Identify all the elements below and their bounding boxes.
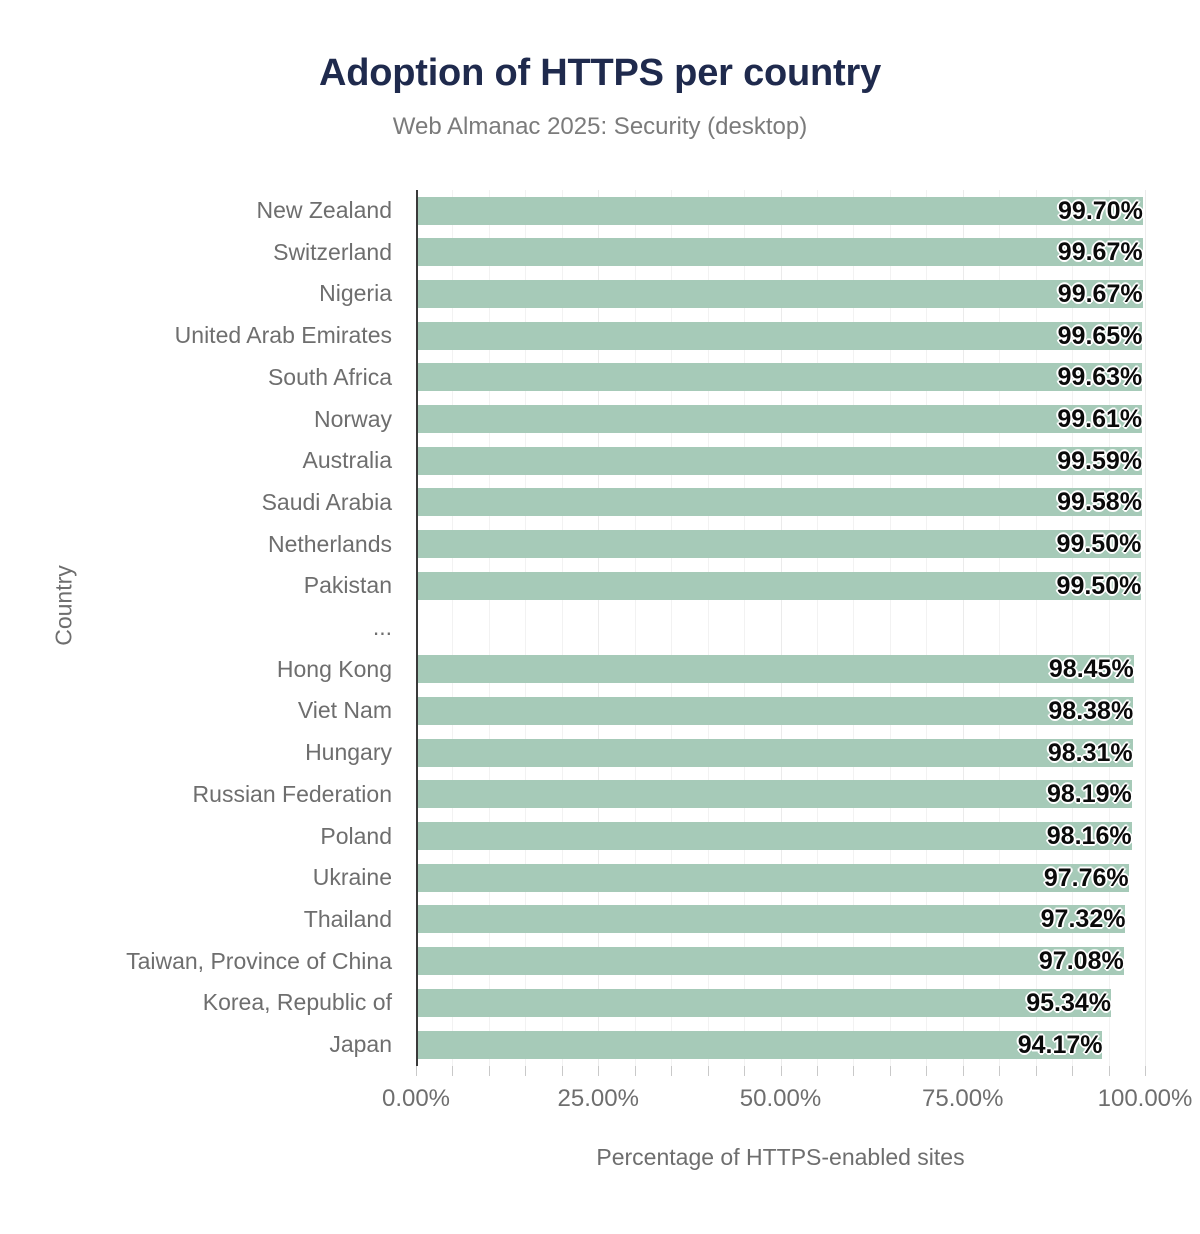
plot-area: 99.70%99.67%99.67%99.65%99.63%99.61%99.5… — [416, 190, 1145, 1066]
bar-row: 97.76% — [416, 857, 1145, 899]
bar-value-label: 95.34% — [416, 989, 1121, 1017]
x-axis-tick-label: 75.00% — [922, 1085, 1003, 1113]
bar-value-label: 99.67% — [416, 238, 1153, 266]
x-axis-tick — [963, 1066, 964, 1076]
x-axis-tick — [999, 1066, 1000, 1076]
bar-value-label: 99.59% — [416, 447, 1152, 475]
bar-row: 99.67% — [416, 232, 1145, 274]
bar-row: 98.31% — [416, 732, 1145, 774]
bar-row: 95.34% — [416, 982, 1145, 1024]
x-axis-title: Percentage of HTTPS-enabled sites — [416, 1144, 1145, 1171]
bar-value-label: 99.67% — [416, 280, 1153, 308]
bar-value-label: 98.38% — [416, 697, 1143, 725]
bar-row: 99.63% — [416, 357, 1145, 399]
x-axis-tick — [671, 1066, 672, 1076]
x-axis-tick — [562, 1066, 563, 1076]
x-axis-tick — [598, 1066, 599, 1076]
bar-value-label: 97.32% — [416, 905, 1135, 933]
x-axis-tick — [781, 1066, 782, 1076]
bar-row: 98.19% — [416, 774, 1145, 816]
chart-figure: Adoption of HTTPS per country Web Almana… — [0, 0, 1200, 1234]
y-axis-tick-label: Thailand — [0, 899, 404, 941]
bar-value-label: 99.70% — [416, 197, 1153, 225]
bar-rows: 99.70%99.67%99.67%99.65%99.63%99.61%99.5… — [416, 190, 1145, 1066]
y-axis-tick-label: Poland — [0, 816, 404, 858]
bar-row: 99.50% — [416, 565, 1145, 607]
x-axis-tick — [1145, 1066, 1146, 1076]
x-axis-ticks — [416, 1066, 1145, 1078]
bar-row — [416, 607, 1145, 649]
bar-value-label: 98.19% — [416, 780, 1142, 808]
x-axis-tick — [853, 1066, 854, 1076]
x-axis-tick — [1036, 1066, 1037, 1076]
x-axis-tick-label: 0.00% — [382, 1085, 450, 1113]
y-axis-line — [416, 190, 418, 1066]
bar-value-label: 99.65% — [416, 322, 1152, 350]
y-axis-tick-label: Switzerland — [0, 232, 404, 274]
bar-value-label: 98.31% — [416, 739, 1143, 767]
bar-value-label: 99.61% — [416, 405, 1152, 433]
y-axis-tick-label: Nigeria — [0, 273, 404, 315]
x-axis-tick — [890, 1066, 891, 1076]
bar-row: 99.61% — [416, 399, 1145, 441]
bar-row: 99.58% — [416, 482, 1145, 524]
y-axis-tick-label: Norway — [0, 399, 404, 441]
y-axis-tick-label: New Zealand — [0, 190, 404, 232]
bar-row: 98.38% — [416, 690, 1145, 732]
bar-value-label: 98.16% — [416, 822, 1142, 850]
bar-row: 99.70% — [416, 190, 1145, 232]
bar-row: 99.59% — [416, 440, 1145, 482]
bar-row: 99.67% — [416, 273, 1145, 315]
x-axis-tick — [416, 1066, 417, 1076]
x-axis-tick — [635, 1066, 636, 1076]
y-axis-tick-label: Viet Nam — [0, 690, 404, 732]
bar-value-label: 97.08% — [416, 947, 1134, 975]
x-axis-tick-label: 25.00% — [558, 1085, 639, 1113]
x-axis-tick-label: 100.00% — [1098, 1085, 1193, 1113]
x-axis-tick — [525, 1066, 526, 1076]
y-axis-tick-label: Korea, Republic of — [0, 982, 404, 1024]
bar-row: 99.50% — [416, 524, 1145, 566]
y-axis-tick-label: United Arab Emirates — [0, 315, 404, 357]
bar-row: 94.17% — [416, 1024, 1145, 1066]
x-axis-tick — [489, 1066, 490, 1076]
bar-row: 98.16% — [416, 816, 1145, 858]
x-axis-tick — [926, 1066, 927, 1076]
y-axis-tick-label: South Africa — [0, 357, 404, 399]
y-axis-title: Country — [51, 536, 78, 676]
x-axis-tick — [744, 1066, 745, 1076]
bar-value-label: 98.45% — [416, 655, 1144, 683]
bar-value-label: 94.17% — [416, 1031, 1112, 1059]
bar-value-label: 99.63% — [416, 363, 1152, 391]
bar-value-label: 99.50% — [416, 572, 1151, 600]
page-title: Adoption of HTTPS per country — [0, 52, 1200, 95]
x-axis-tick — [1109, 1066, 1110, 1076]
x-axis-tick — [708, 1066, 709, 1076]
x-axis-tick — [817, 1066, 818, 1076]
y-axis-tick-label: Saudi Arabia — [0, 482, 404, 524]
x-axis-tick — [452, 1066, 453, 1076]
x-axis-tick — [1072, 1066, 1073, 1076]
y-axis-tick-label: Australia — [0, 440, 404, 482]
bar-value-label: 97.76% — [416, 864, 1139, 892]
bar-row: 98.45% — [416, 649, 1145, 691]
x-axis-tick-labels: 0.00%25.00%50.00%75.00%100.00% — [0, 1085, 1200, 1119]
y-axis-tick-label: Japan — [0, 1024, 404, 1066]
bar-value-label: 99.58% — [416, 488, 1152, 516]
y-axis-tick-label: Ukraine — [0, 857, 404, 899]
bar-value-label: 99.50% — [416, 530, 1151, 558]
bar-row: 99.65% — [416, 315, 1145, 357]
bar-row: 97.08% — [416, 941, 1145, 983]
bar-row: 97.32% — [416, 899, 1145, 941]
y-axis-tick-label: Hungary — [0, 732, 404, 774]
chart-subtitle: Web Almanac 2025: Security (desktop) — [0, 113, 1200, 141]
y-axis-tick-label: Taiwan, Province of China — [0, 941, 404, 983]
x-axis-tick-label: 50.00% — [740, 1085, 821, 1113]
y-axis-tick-label: Russian Federation — [0, 774, 404, 816]
